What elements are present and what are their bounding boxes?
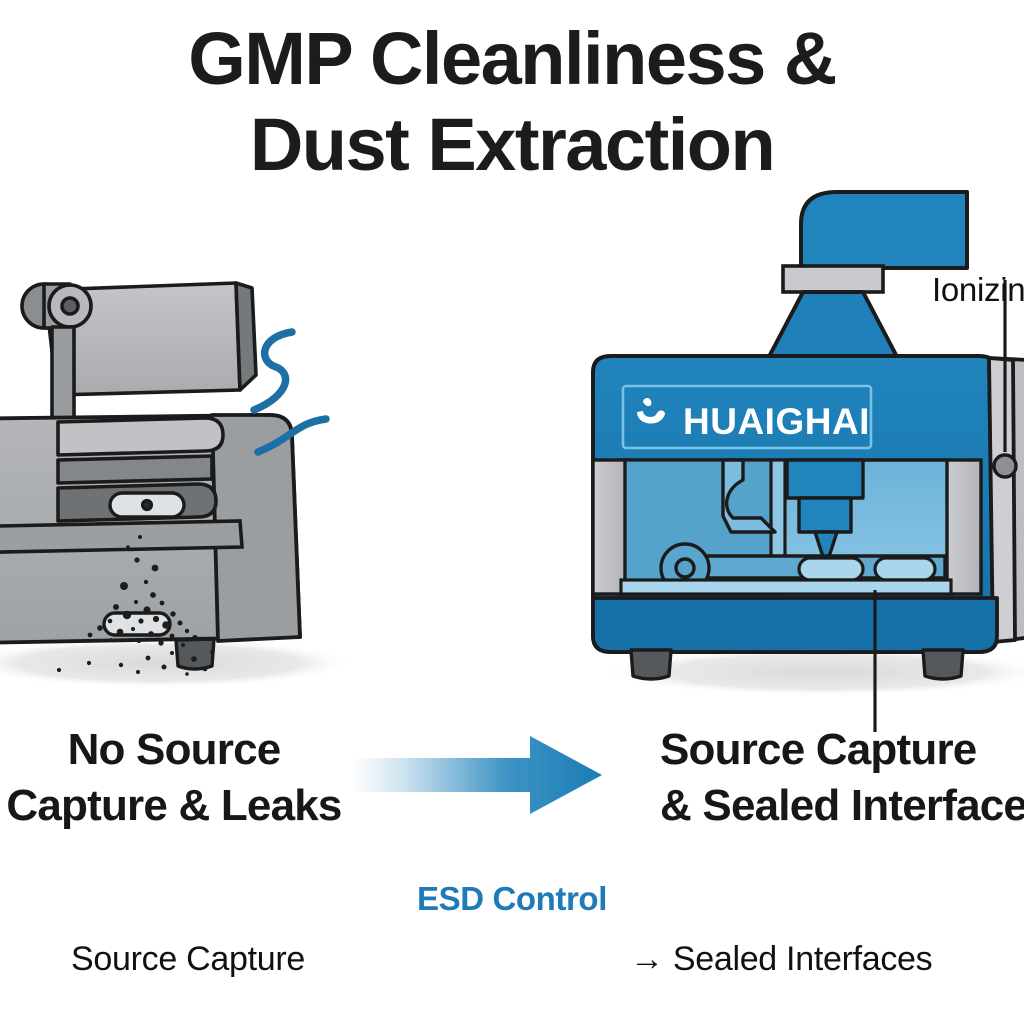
esd-control-label: ESD Control — [0, 880, 1024, 918]
machine-ledge — [0, 521, 242, 553]
arrow-shape — [352, 736, 602, 814]
left-machine-illustration — [0, 255, 400, 705]
left-caption-line-1: No Source — [0, 722, 384, 778]
infographic-canvas: GMP Cleanliness & Dust Extraction — [0, 0, 1024, 1024]
footer-item-sealed-interfaces: → Sealed Interfaces — [630, 940, 1024, 979]
lower-tray — [621, 580, 951, 594]
title-line-1: GMP Cleanliness & — [0, 22, 1024, 96]
page-title: GMP Cleanliness & Dust Extraction — [0, 22, 1024, 182]
duct-flange — [783, 266, 883, 292]
left-panel-caption: No Source Capture & Leaks — [0, 722, 384, 834]
left-caption-line-2: Capture & Leaks — [0, 778, 384, 834]
transition-arrow — [352, 736, 602, 814]
base-band — [593, 598, 997, 652]
ionizing-callout-point — [994, 455, 1016, 477]
ionizing-callout-label: Ionizing — [932, 271, 1024, 309]
roll-feeder — [22, 283, 256, 420]
right-machine-illustration: HUAIGHAI — [575, 180, 1024, 700]
title-line-2: Dust Extraction — [0, 108, 1024, 182]
right-caption-line-1: Source Capture — [660, 722, 1024, 778]
base-vent-pill — [104, 613, 170, 635]
status-indicator-pill — [110, 493, 184, 517]
right-caption-line-2: & Sealed Interfaces — [660, 778, 1024, 834]
footer-item-source-capture: Source Capture — [0, 940, 398, 979]
right-panel-caption: Source Capture & Sealed Interfaces — [660, 722, 1024, 834]
brand-wordmark: HUAIGHAI — [683, 401, 870, 442]
